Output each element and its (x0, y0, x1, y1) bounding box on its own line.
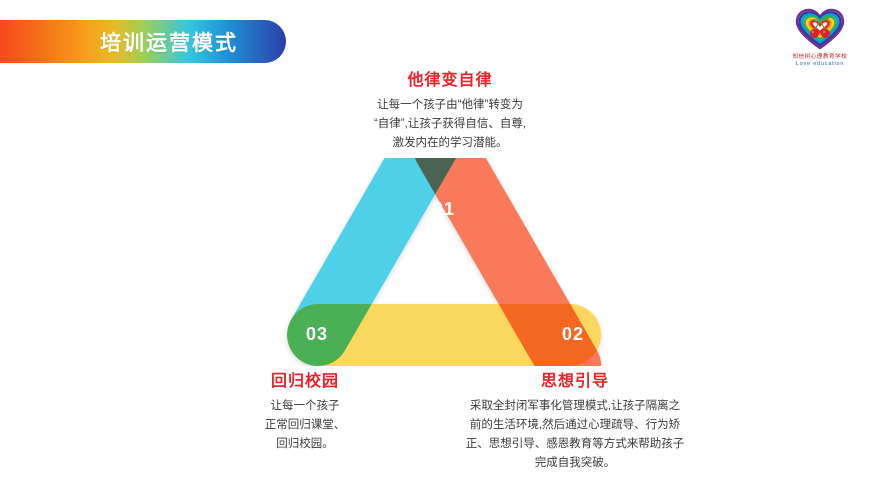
header-banner: 培训运营模式 (0, 20, 286, 63)
info-block-left: 回归校园 让每一个孩子 正常回归课堂、 回归校园。 (205, 367, 405, 454)
block-body-top: 让每一个孩子由“他律”转变为 “自律”,让孩子获得自信、自尊, 激发内在的学习潜… (300, 96, 600, 153)
logo-cn-text: 知信树心理教育学校 (793, 51, 848, 60)
logo: 知信树心理教育学校 Love education (772, 8, 868, 70)
block-title-right: 思想引导 (420, 367, 730, 391)
page-title: 培训运营模式 (48, 27, 238, 57)
block-body-left: 让每一个孩子 正常回归课堂、 回归校园。 (205, 397, 405, 454)
block-body-right: 采取全封闭军事化管理模式,让孩子隔离之 前的生活环境,然后通过心理疏导、行为矫 … (420, 397, 730, 473)
block-title-left: 回归校园 (205, 367, 405, 391)
info-block-top: 他律变自律 让每一个孩子由“他律”转变为 “自律”,让孩子获得自信、自尊, 激发… (300, 66, 600, 153)
info-block-right: 思想引导 采取全封闭军事化管理模式,让孩子隔离之 前的生活环境,然后通过心理疏导… (420, 367, 730, 473)
node-number-02: 02 (562, 324, 584, 344)
triangle-process-diagram: 01 02 03 (264, 158, 624, 366)
node-number-01: 01 (433, 199, 455, 219)
node-number-03: 03 (306, 324, 328, 344)
rainbow-heart-cherry-icon (794, 8, 846, 50)
block-title-top: 他律变自律 (300, 66, 600, 90)
logo-en-text: Love education (796, 61, 845, 67)
